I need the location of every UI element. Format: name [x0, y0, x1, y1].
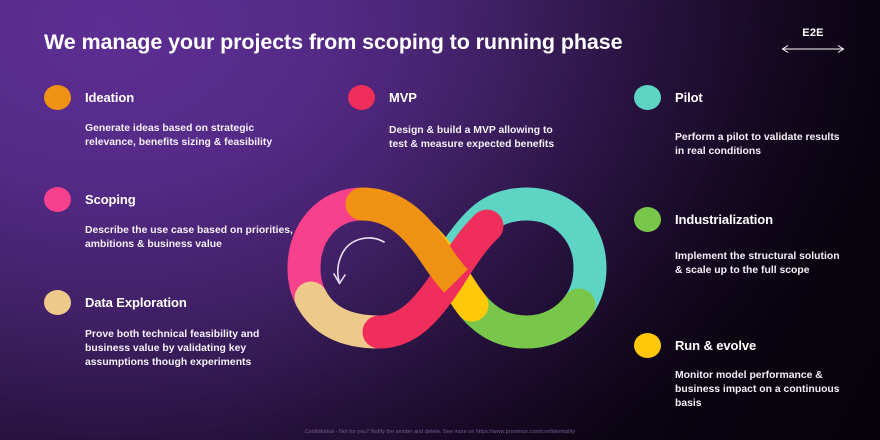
phase-header: Industrialization	[634, 206, 849, 232]
phase-description: Design & build a MVP allowing to test & …	[389, 124, 563, 152]
phase-header: Pilot	[634, 84, 849, 110]
phase-item-mvp[interactable]: MVP Design & build a MVP allowing to tes…	[348, 84, 563, 152]
curved-arrow-counterclockwise-icon	[334, 238, 384, 284]
column-middle: MVP Design & build a MVP allowing to tes…	[348, 84, 563, 152]
infinity-cap-run-evolve	[456, 289, 489, 322]
phase-dot-icon	[44, 187, 71, 212]
phase-dot-icon	[44, 85, 71, 110]
phase-title: Industrialization	[675, 212, 773, 227]
phase-item-run-evolve[interactable]: Run & evolve Monitor model performance &…	[634, 333, 849, 411]
infinity-segment-industrialization	[472, 305, 579, 332]
phase-description: Describe the use case based on prioritie…	[85, 224, 294, 252]
infinity-cap-data-exploration	[295, 282, 328, 315]
phase-item-pilot[interactable]: Pilot Perform a pilot to validate result…	[634, 84, 849, 159]
phase-header: Ideation	[44, 84, 294, 110]
phase-dot-icon	[348, 85, 375, 110]
infinity-cap-mvp-end	[471, 210, 504, 243]
confidentiality-footer: Confidential - Not for you? Notify the s…	[0, 429, 880, 435]
phase-item-ideation[interactable]: Ideation Generate ideas based on strateg…	[44, 84, 294, 150]
page-title: We manage your projects from scoping to …	[44, 30, 622, 55]
phase-header: Run & evolve	[634, 333, 849, 359]
phase-item-data-exploration[interactable]: Data Exploration Prove both technical fe…	[44, 290, 294, 370]
phase-description: Monitor model performance & business imp…	[675, 369, 849, 411]
phase-item-industrialization[interactable]: Industrialization Implement the structur…	[634, 206, 849, 278]
e2e-marker: E2E	[778, 28, 848, 54]
infinity-cap-industrialization	[563, 289, 596, 322]
phase-description: Perform a pilot to validate results in r…	[675, 131, 849, 159]
phase-description: Generate ideas based on strategic releva…	[85, 122, 294, 150]
infinity-cap-pilot	[511, 188, 544, 221]
phase-dot-icon	[634, 207, 661, 232]
phase-dot-icon	[634, 333, 661, 358]
infinity-loop-diagram	[282, 186, 612, 350]
infinity-cap-ideation	[346, 188, 379, 221]
phase-description: Prove both technical feasibility and bus…	[85, 328, 294, 370]
phase-title: Data Exploration	[85, 295, 187, 310]
phase-title: MVP	[389, 90, 417, 105]
column-right: Pilot Perform a pilot to validate result…	[634, 84, 849, 411]
phase-item-scoping[interactable]: Scoping Describe the use case based on p…	[44, 186, 294, 252]
phase-header: Data Exploration	[44, 290, 294, 316]
phase-header: Scoping	[44, 186, 294, 212]
phase-title: Scoping	[85, 192, 136, 207]
infinity-cap-mvp	[363, 316, 396, 349]
column-left: Ideation Generate ideas based on strateg…	[44, 84, 294, 370]
phase-title: Run & evolve	[675, 338, 756, 353]
phase-title: Pilot	[675, 90, 703, 105]
phase-title: Ideation	[85, 90, 134, 105]
phase-dot-icon	[44, 290, 71, 315]
e2e-label: E2E	[778, 28, 848, 39]
phase-dot-icon	[634, 85, 661, 110]
double-headed-arrow-icon	[778, 44, 848, 54]
phase-description: Implement the structural solution & scal…	[675, 250, 849, 278]
phase-header: MVP	[348, 84, 563, 110]
slide-canvas: We manage your projects from scoping to …	[0, 0, 880, 440]
infinity-segment-ideation	[362, 204, 456, 281]
